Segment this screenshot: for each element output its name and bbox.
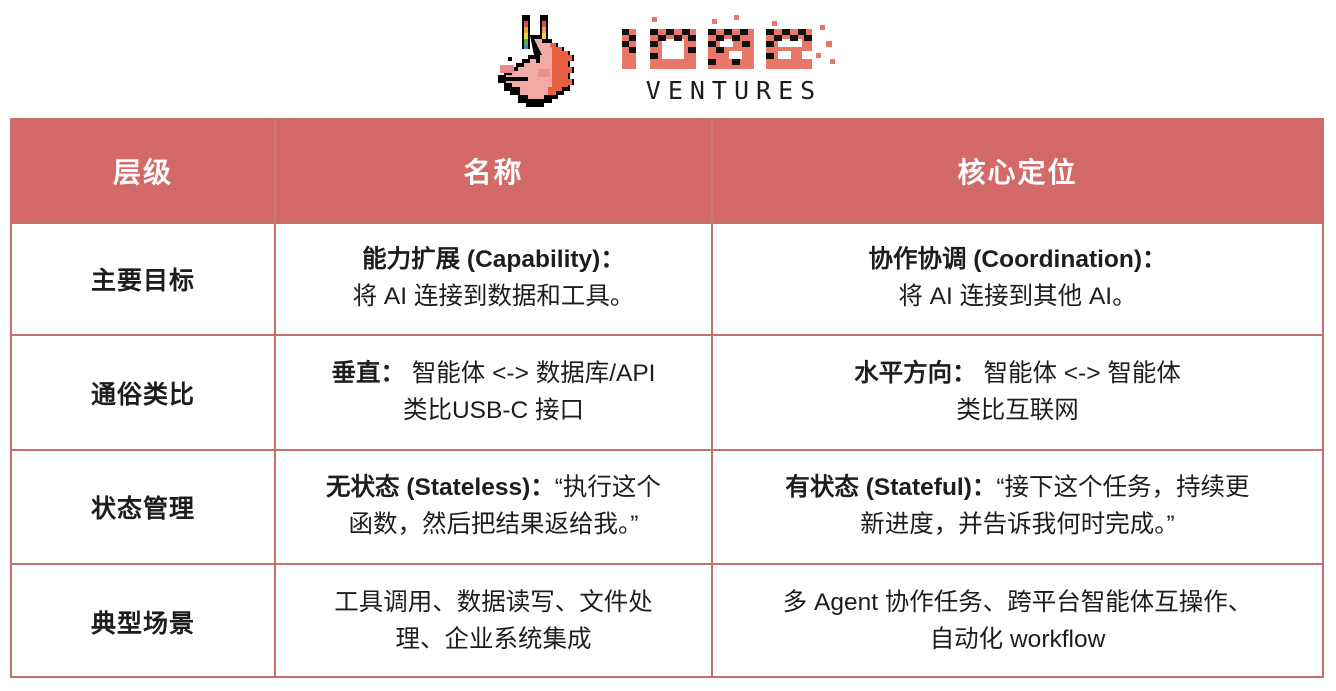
row-name-cell: 垂直： 智能体 <-> 数据库/API 类比USB-C 接口 (274, 336, 711, 449)
core-line2: 将 AI 连接到其他 AI。 (868, 279, 1166, 316)
name-line2: 将 AI 连接到数据和工具。 (353, 279, 635, 316)
core-line1-rest: 智能体 <-> 智能体 (977, 360, 1181, 387)
table-row: 通俗类比 垂直： 智能体 <-> 数据库/API 类比USB-C 接口 水平方向… (12, 334, 1322, 449)
core-line1-rest: “接下这个任务，持续更 (996, 474, 1249, 501)
iosg-wordmark-icon (616, 15, 846, 77)
core-line1-bold: 有状态 (Stateful)： (785, 474, 996, 501)
row-level-cell: 通俗类比 (12, 336, 274, 449)
logo-tagline: VENTURES (640, 78, 822, 103)
table-row: 主要目标 能力扩展 (Capability)： 将 AI 连接到数据和工具。 协… (12, 222, 1322, 334)
name-line2: 类比USB-C 接口 (332, 393, 656, 430)
column-header-core: 核心定位 (711, 120, 1322, 222)
table-row: 典型场景 工具调用、数据读写、文件处 理、企业系统集成 多 Agent 协作任务… (12, 563, 1322, 678)
row-name-cell: 无状态 (Stateless)：“执行这个 函数，然后把结果返给我。” (274, 451, 711, 563)
name-line2: 理、企业系统集成 (334, 622, 653, 659)
row-level-cell: 典型场景 (12, 565, 274, 678)
name-line1-bold: 垂直： (332, 360, 406, 387)
row-core-cell: 水平方向： 智能体 <-> 智能体 类比互联网 (711, 336, 1322, 449)
brand-header: VENTURES (0, 0, 1336, 118)
row-level-label: 状态管理 (91, 489, 195, 525)
column-header-name: 名称 (274, 120, 711, 222)
core-line1-bold: 协作协调 (Coordination)： (868, 246, 1166, 273)
row-level-label: 通俗类比 (91, 375, 195, 411)
row-level-cell: 状态管理 (12, 451, 274, 563)
name-line1-rest: 智能体 <-> 数据库/API (405, 360, 656, 387)
name-line1: 工具调用、数据读写、文件处 (334, 585, 653, 622)
name-line2: 函数，然后把结果返给我。” (326, 507, 661, 544)
row-core-cell: 有状态 (Stateful)：“接下这个任务，持续更 新进度，并告诉我何时完成。… (711, 451, 1322, 563)
name-line1-bold: 无状态 (Stateless)： (326, 474, 555, 501)
row-level-label: 主要目标 (91, 261, 195, 297)
llama-pixel-icon (490, 11, 602, 107)
row-level-label: 典型场景 (91, 604, 195, 640)
row-core-cell: 多 Agent 协作任务、跨平台智能体互操作、 自动化 workflow (711, 565, 1322, 678)
table-header-row: 层级 名称 核心定位 (12, 120, 1322, 222)
core-line1-bold: 水平方向： (854, 360, 977, 387)
row-name-cell: 工具调用、数据读写、文件处 理、企业系统集成 (274, 565, 711, 678)
core-line2: 新进度，并告诉我何时完成。” (785, 507, 1249, 544)
name-line1-rest: “执行这个 (555, 474, 661, 501)
name-line1-bold: 能力扩展 (Capability)： (362, 246, 625, 273)
row-level-cell: 主要目标 (12, 224, 274, 334)
row-core-cell: 协作协调 (Coordination)： 将 AI 连接到其他 AI。 (711, 224, 1322, 334)
page-root: VENTURES 层级 名称 核心定位 主要目标 能力扩展 (Capabilit… (0, 0, 1336, 691)
core-line2: 自动化 workflow (783, 622, 1253, 659)
column-header-level: 层级 (12, 120, 274, 222)
row-name-cell: 能力扩展 (Capability)： 将 AI 连接到数据和工具。 (274, 224, 711, 334)
comparison-table: 层级 名称 核心定位 主要目标 能力扩展 (Capability)： 将 AI … (10, 118, 1324, 678)
core-line1: 多 Agent 协作任务、跨平台智能体互操作、 (783, 585, 1253, 622)
table-row: 状态管理 无状态 (Stateless)：“执行这个 函数，然后把结果返给我。”… (12, 449, 1322, 563)
iosg-wordmark-block: VENTURES (616, 15, 846, 103)
core-line2: 类比互联网 (854, 393, 1181, 430)
